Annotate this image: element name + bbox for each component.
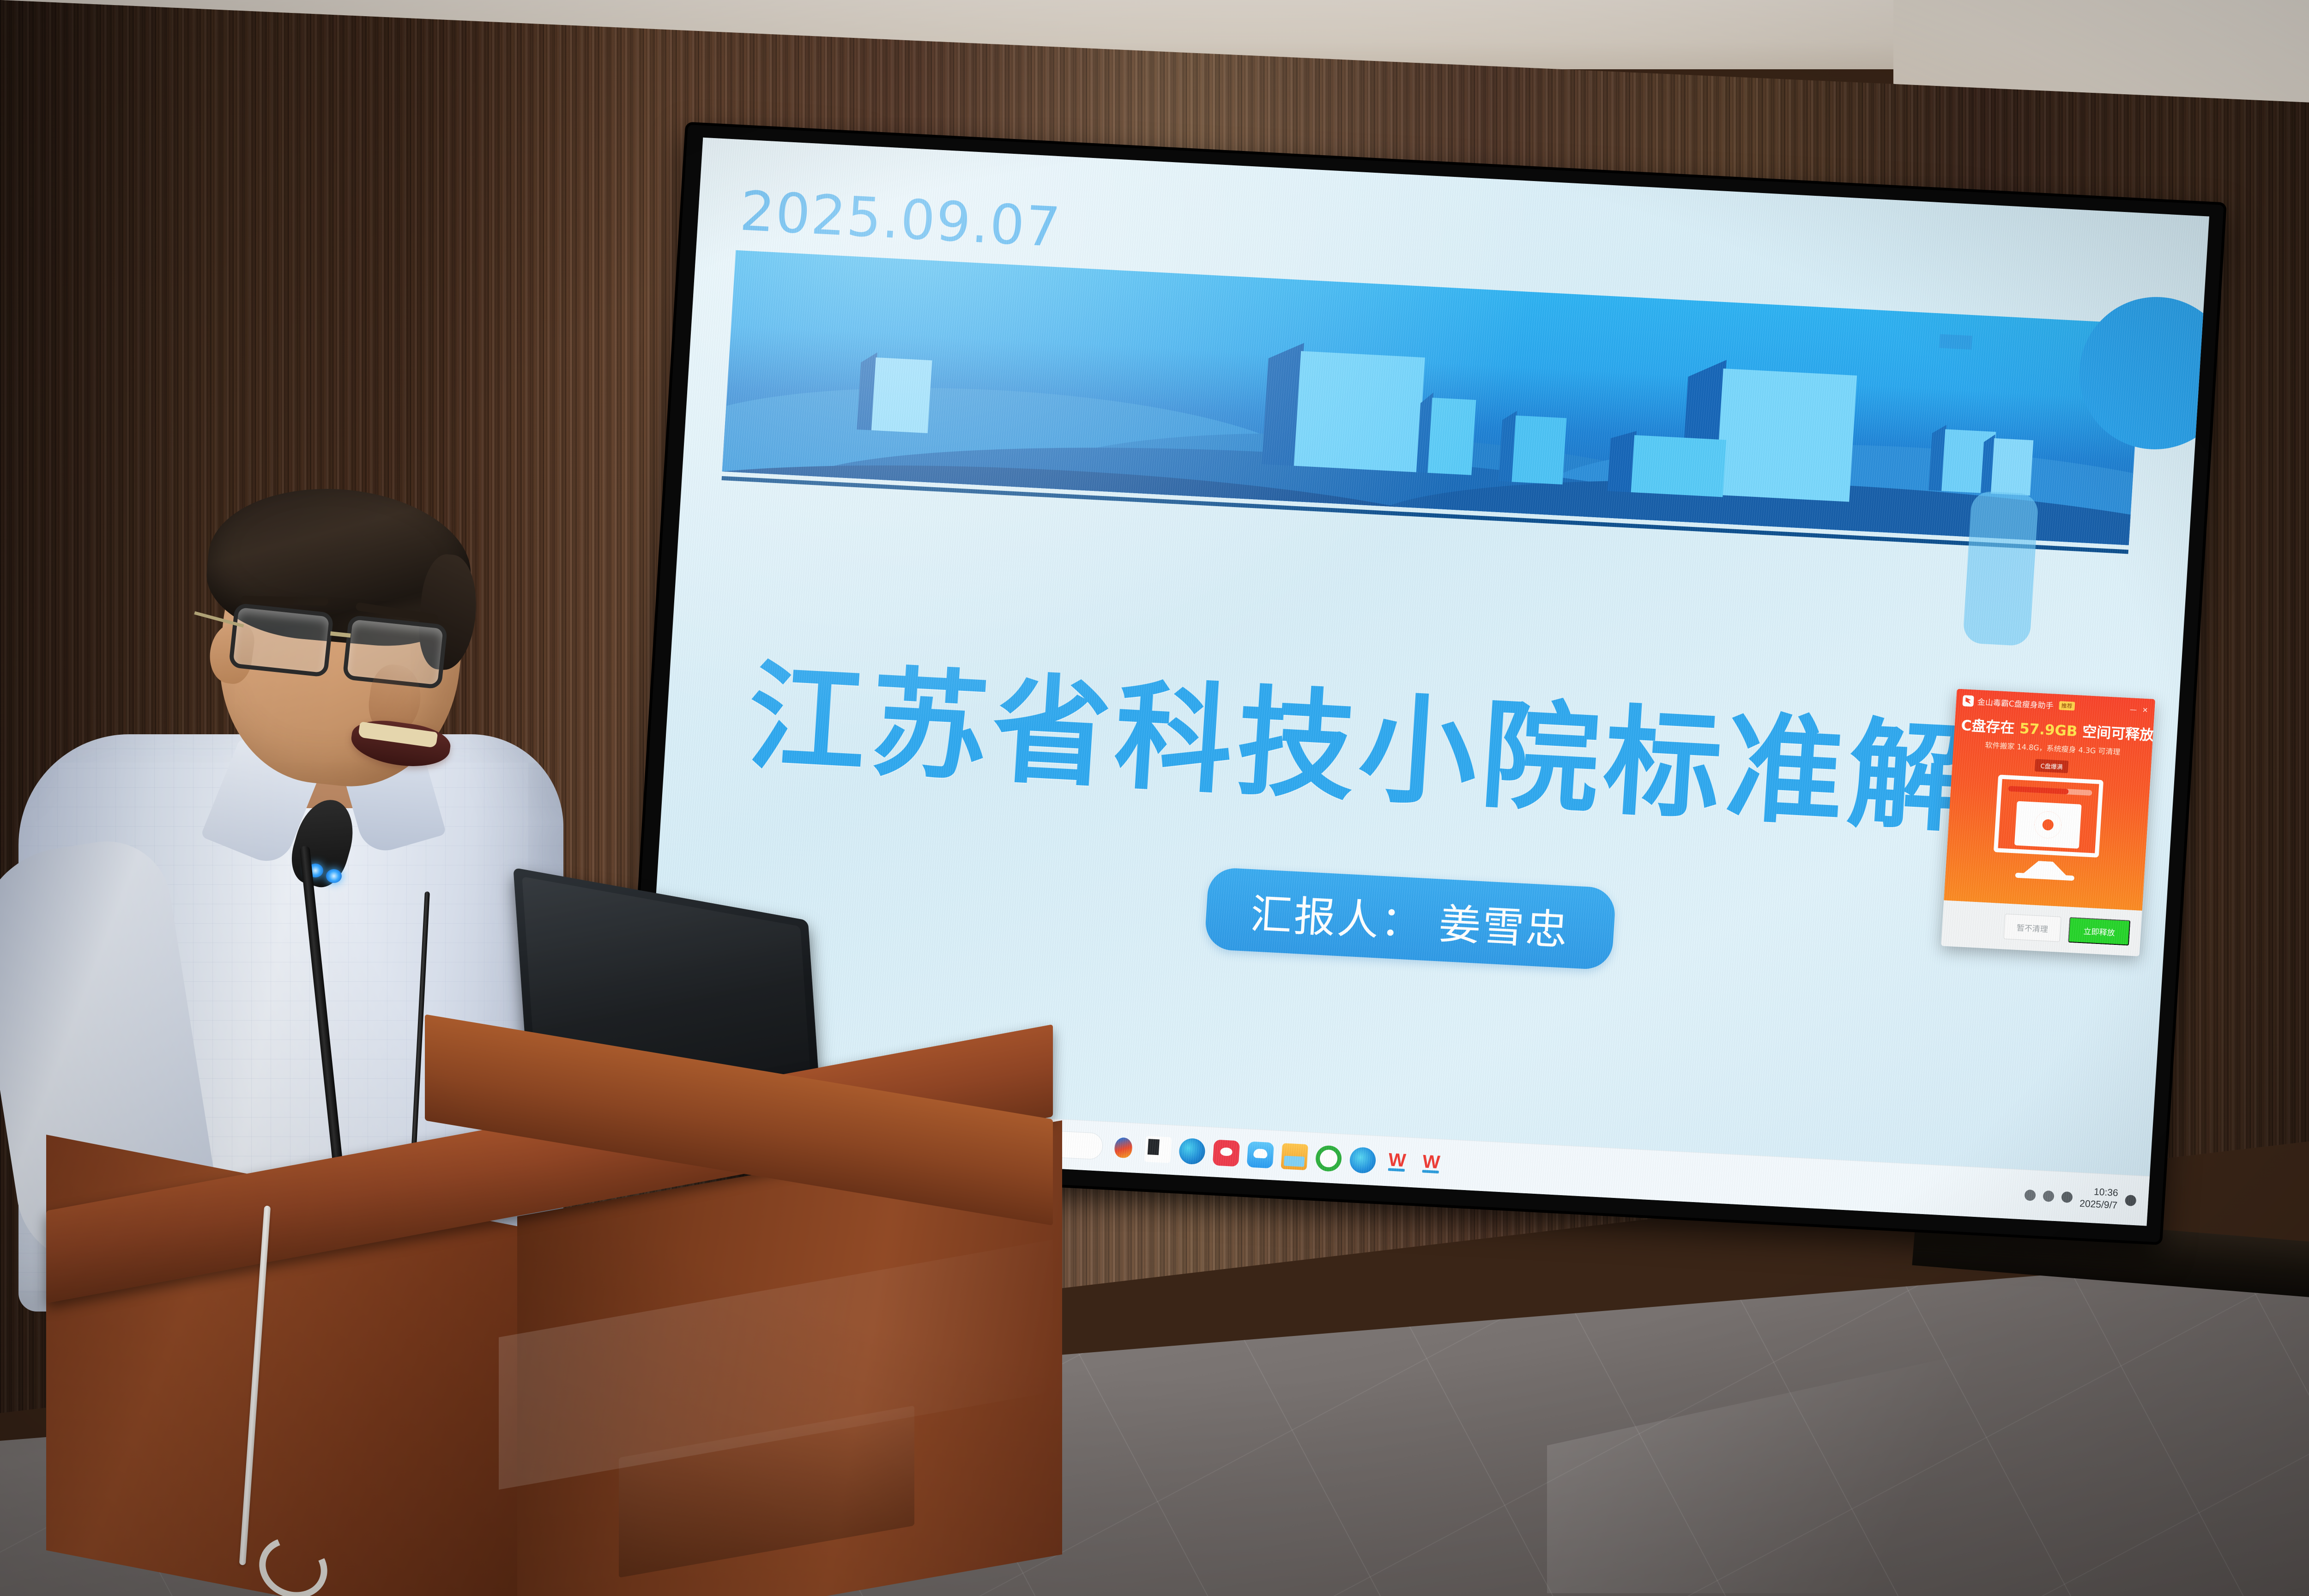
notification-bell-icon[interactable] (2125, 1194, 2136, 1206)
popup-app-name: 金山毒霸C盘瘦身助手 (1977, 695, 2054, 711)
popup-illustration: C盘爆满 (1951, 752, 2145, 900)
hero-block-6 (1631, 435, 1726, 497)
taskbar-clock[interactable]: 10:36 2025/9/7 (2079, 1185, 2119, 1212)
microsoft-edge-icon[interactable] (1349, 1147, 1377, 1174)
popup-titlebar: 金山毒霸C盘瘦身助手 推荐 — ✕ (1962, 695, 2148, 716)
qq-messenger-icon[interactable] (1213, 1139, 1240, 1167)
popup-clean-button[interactable]: 立即释放 (2068, 917, 2130, 946)
clock-date: 2025/9/7 (2079, 1197, 2118, 1211)
popup-headline-suffix: 空间可释放 (2082, 724, 2154, 744)
monitor-illustration-icon (1994, 774, 2103, 858)
decorative-rounded-rect (1963, 491, 2039, 647)
kingsoft-logo-icon (1962, 695, 1974, 707)
presentation-room-scene: 2025.09.07 (0, 0, 2309, 1596)
wifi-icon[interactable] (2025, 1189, 2036, 1201)
popup-window-controls[interactable]: — ✕ (2129, 705, 2148, 714)
tim-cloud-icon[interactable] (1247, 1141, 1274, 1168)
hero-block-8 (1991, 438, 2034, 496)
browser-globe-icon[interactable] (1179, 1137, 1206, 1165)
dark-app-icon[interactable] (1144, 1136, 1172, 1163)
monitor-base (2015, 873, 2075, 881)
volume-icon[interactable] (2043, 1190, 2055, 1202)
wooden-podium (46, 1030, 1062, 1596)
hero-block-1 (871, 357, 932, 433)
battery-icon[interactable] (2061, 1191, 2073, 1203)
kingsoft-cleanup-popup[interactable]: 金山毒霸C盘瘦身助手 推荐 — ✕ C盘存在 57.9GB 空间可释放 软件搬家… (1941, 689, 2155, 956)
popup-tag: C盘爆满 (2035, 759, 2069, 774)
close-icon[interactable]: ✕ (2142, 706, 2148, 714)
popup-headline-prefix: C盘存在 (1961, 717, 2015, 737)
hero-block-2 (1294, 351, 1425, 472)
popup-later-button[interactable]: 暂不清理 (2003, 914, 2061, 942)
system-tray[interactable]: 10:36 2025/9/7 (2024, 1183, 2142, 1213)
hero-block-5 (1716, 369, 1857, 502)
popup-header: 金山毒霸C盘瘦身助手 推荐 — ✕ C盘存在 57.9GB 空间可释放 软件搬家… (1944, 689, 2155, 911)
slide-date: 2025.09.07 (738, 179, 1063, 259)
microphone-led-b (326, 869, 342, 883)
decorative-chip (1939, 334, 1972, 350)
eyeglass-lens-left (229, 603, 334, 677)
slide-hero-banner (722, 250, 2143, 545)
minimize-icon[interactable]: — (2129, 705, 2137, 714)
popup-headline-size: 57.9GB (2019, 720, 2078, 740)
hero-block-3 (1427, 398, 1476, 475)
popup-footer: 暂不清理 立即释放 (1941, 901, 2142, 956)
hero-block-4 (1512, 415, 1567, 484)
presenter-badge: 汇报人： 姜雪忠 (1204, 867, 1616, 970)
wps-writer-icon[interactable] (1384, 1148, 1411, 1175)
hard-disk-icon (2014, 801, 2082, 849)
penguin-app-icon[interactable] (1110, 1134, 1137, 1161)
disk-usage-bar (2008, 786, 2092, 796)
popup-badge: 推荐 (2059, 701, 2075, 711)
wps-presentation-icon[interactable] (1417, 1150, 1445, 1177)
file-explorer-icon[interactable] (1281, 1143, 1308, 1170)
internet-explorer-icon[interactable] (1315, 1145, 1342, 1172)
